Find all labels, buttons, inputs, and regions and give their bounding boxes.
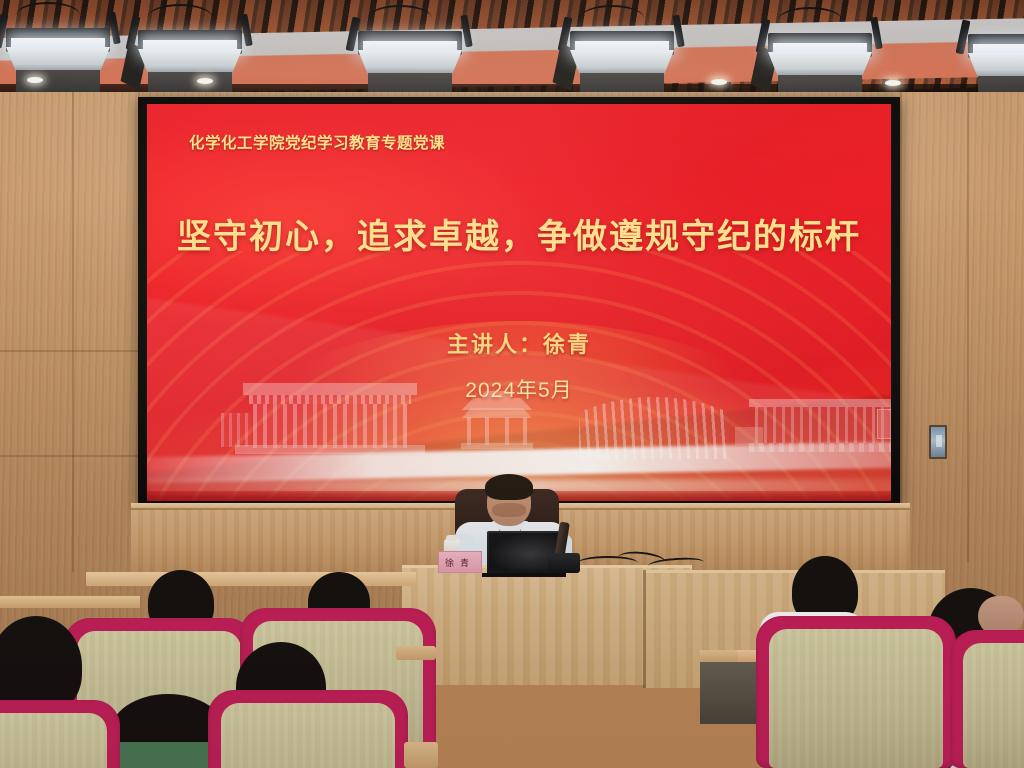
laptop-base xyxy=(482,573,566,577)
stage-floodlight-icon xyxy=(358,31,462,89)
ceiling-downlight-icon xyxy=(197,78,213,84)
audience-desk-shelf xyxy=(86,572,416,586)
slide-date-line: 2024年5月 xyxy=(147,374,891,404)
auditorium-seat[interactable] xyxy=(756,616,956,768)
stage-floodlight-icon xyxy=(138,30,242,88)
seat-armrest xyxy=(396,646,436,660)
ceiling-downlight-icon xyxy=(885,80,901,86)
stage-floodlight-icon xyxy=(968,34,1024,92)
desk-seam xyxy=(643,570,646,688)
landmark-facade xyxy=(755,407,891,443)
led-screen[interactable]: 化学化工学院党纪学习教育专题党课 坚守初心，追求卓越，争做遵规守纪的标杆 主讲人… xyxy=(147,104,891,501)
seat-armrest xyxy=(700,650,738,662)
pavilion-pillar xyxy=(523,417,527,445)
pavilion-pillar xyxy=(467,417,471,445)
microphone-base xyxy=(548,553,580,573)
wall-switch-panel-icon[interactable] xyxy=(929,425,947,459)
light-underside xyxy=(148,72,232,94)
seat-back-panel xyxy=(0,713,107,768)
lecture-hall-photo: 化学化工学院党纪学习教育专题党课 坚守初心，追求卓越，争做遵规守纪的标杆 主讲人… xyxy=(0,0,1024,768)
presenter-face-shadow xyxy=(492,503,526,517)
auditorium-seat[interactable] xyxy=(208,690,408,768)
seat-back-panel xyxy=(963,643,1024,768)
landmark-wing xyxy=(221,413,251,447)
landmark-columns xyxy=(253,404,407,448)
stage-floodlight-icon xyxy=(570,31,674,89)
auditorium-seat[interactable] xyxy=(950,630,1024,768)
led-screen-bezel: 化学化工学院党纪学习教育专题党课 坚守初心，追求卓越，争做遵规守纪的标杆 主讲人… xyxy=(138,97,900,508)
seat-armrest xyxy=(404,742,438,768)
tea-cup-lid xyxy=(446,535,458,541)
pavilion-pillar xyxy=(485,417,489,445)
auditorium-seat[interactable] xyxy=(0,700,120,768)
audience-desk-shelf xyxy=(0,596,140,608)
seat-back-panel xyxy=(769,629,943,768)
presenter-hair xyxy=(485,474,533,500)
stage-floodlight-icon xyxy=(6,28,110,86)
seat-back-panel xyxy=(221,703,395,768)
ceiling-downlight-icon xyxy=(27,77,43,83)
name-placard: 徐青 xyxy=(438,551,482,573)
slide-header: 化学化工学院党纪学习教育专题党课 xyxy=(189,131,445,153)
slide-speaker-line: 主讲人：徐青 xyxy=(147,327,891,359)
ceiling-downlight-icon xyxy=(711,79,727,85)
stage-floodlight-icon xyxy=(768,33,872,91)
pavilion-base xyxy=(461,443,533,449)
name-placard-label: 徐青 xyxy=(439,556,481,569)
slide-title: 坚守初心，追求卓越，争做遵规守纪的标杆 xyxy=(147,209,891,258)
landmark-glass-block xyxy=(877,409,891,439)
pavilion-pillar xyxy=(505,417,509,445)
